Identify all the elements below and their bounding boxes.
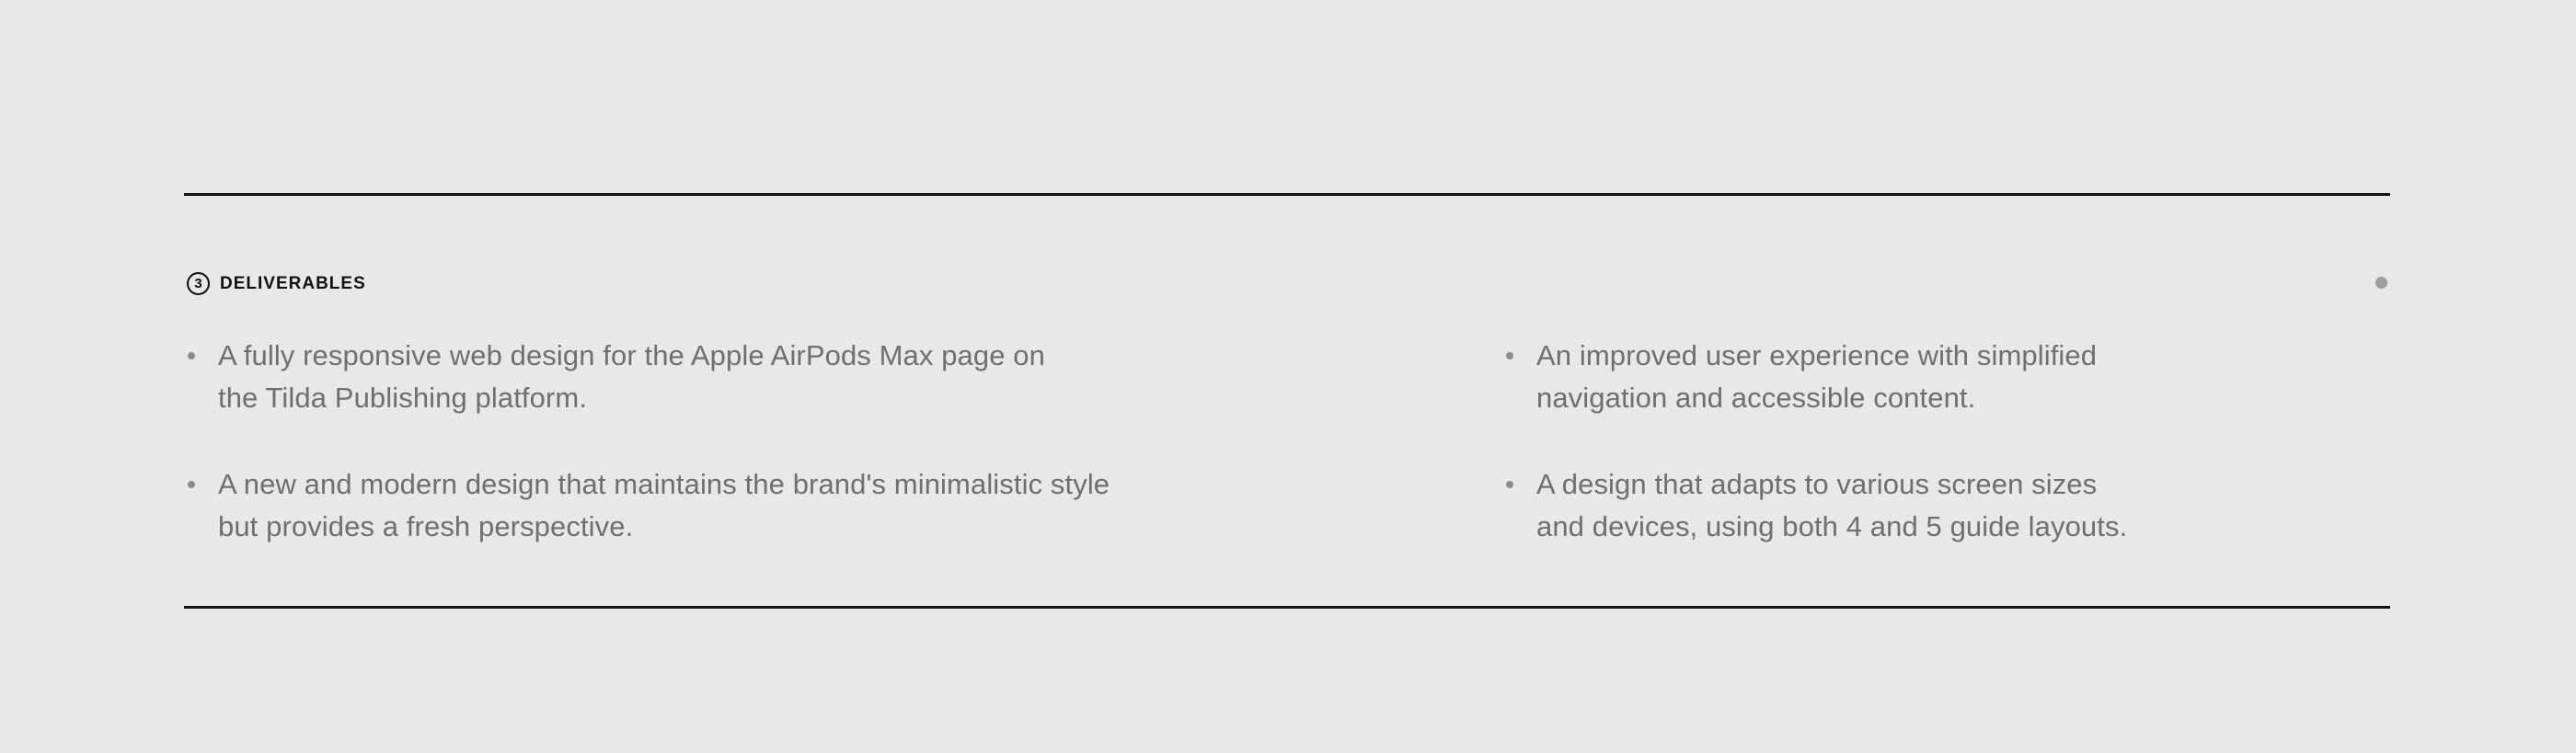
deliverables-slide: 3 DELIVERABLES A fully responsive web de… <box>0 0 2576 753</box>
list-item-text: A design that adapts to various screen s… <box>1536 463 2404 548</box>
list-item: A fully responsive web design for the Ap… <box>184 335 1454 419</box>
bullet-list-left: A fully responsive web design for the Ap… <box>184 335 1454 548</box>
deliverables-column-right: An improved user experience with simplif… <box>1502 335 2404 548</box>
deliverables-columns: A fully responsive web design for the Ap… <box>0 0 2576 753</box>
list-item: An improved user experience with simplif… <box>1502 335 2404 419</box>
bullet-dot-icon <box>1506 481 1513 488</box>
bullet-dot-icon <box>188 481 195 488</box>
list-item: A new and modern design that maintains t… <box>184 463 1454 548</box>
list-item-text: An improved user experience with simplif… <box>1536 335 2404 419</box>
bullet-dot-icon <box>1506 352 1513 359</box>
bullet-dot-icon <box>188 352 195 359</box>
list-item: A design that adapts to various screen s… <box>1502 463 2404 548</box>
deliverables-column-left: A fully responsive web design for the Ap… <box>184 335 1454 548</box>
divider-bottom <box>184 606 2390 609</box>
list-item-text: A fully responsive web design for the Ap… <box>218 335 1454 419</box>
bullet-list-right: An improved user experience with simplif… <box>1502 335 2404 548</box>
list-item-text: A new and modern design that maintains t… <box>218 463 1454 548</box>
